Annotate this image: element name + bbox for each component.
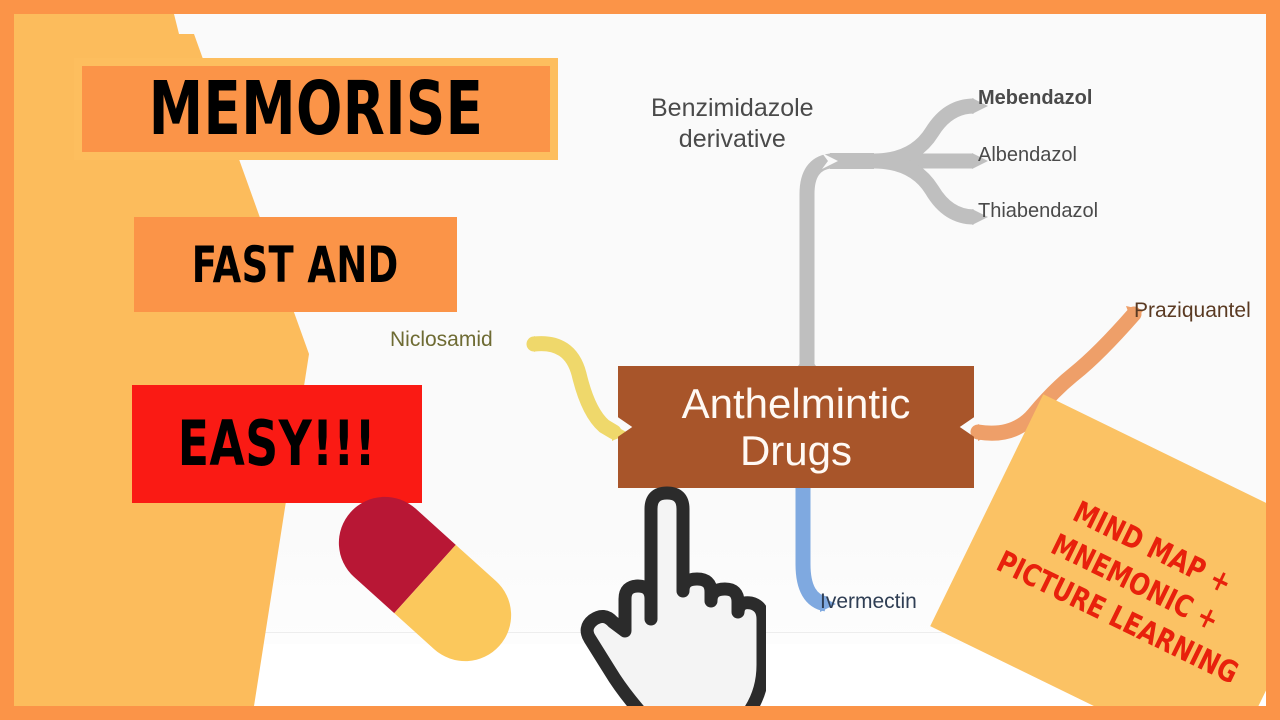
center-node-line2: Drugs (682, 427, 911, 474)
banner-memorise-text: MEMORISE (149, 72, 484, 146)
mindmap-label-niclosamid: Niclosamid (390, 328, 493, 352)
banner-memorise: MEMORISE (74, 58, 558, 160)
slide-canvas: Benzimidazole derivative Mebendazol Albe… (14, 14, 1266, 706)
banner-memorise-inner: MEMORISE (82, 66, 550, 152)
banner-fast-and: FAST AND (134, 217, 457, 312)
benzimidazole-line1: Benzimidazole (651, 93, 814, 124)
mindmap-label-ivermectin: Ivermectin (820, 590, 917, 614)
mindmap-label-benzimidazole: Benzimidazole derivative (651, 93, 814, 156)
mindmap-label-albendazol: Albendazol (978, 144, 1077, 167)
branch-niclosamid-connector (534, 336, 628, 441)
banner-fast-and-text: FAST AND (192, 240, 399, 290)
center-node-label: Anthelmintic Drugs (618, 366, 974, 488)
mindmap-label-mebendazol: Mebendazol (978, 87, 1092, 110)
branch-benzimidazole-connector (798, 98, 988, 372)
mindmap-center-node: Anthelmintic Drugs (618, 366, 974, 488)
hand-pointer-cursor-icon (570, 479, 766, 706)
center-node-line1: Anthelmintic (682, 380, 911, 427)
slide-frame: Benzimidazole derivative Mebendazol Albe… (0, 0, 1280, 720)
mindmap-label-thiabendazol: Thiabendazol (978, 200, 1098, 223)
banner-easy-text: EASY!!! (178, 413, 376, 475)
mindmap-label-praziquantel: Praziquantel (1134, 299, 1251, 323)
benzimidazole-line2: derivative (651, 124, 814, 155)
